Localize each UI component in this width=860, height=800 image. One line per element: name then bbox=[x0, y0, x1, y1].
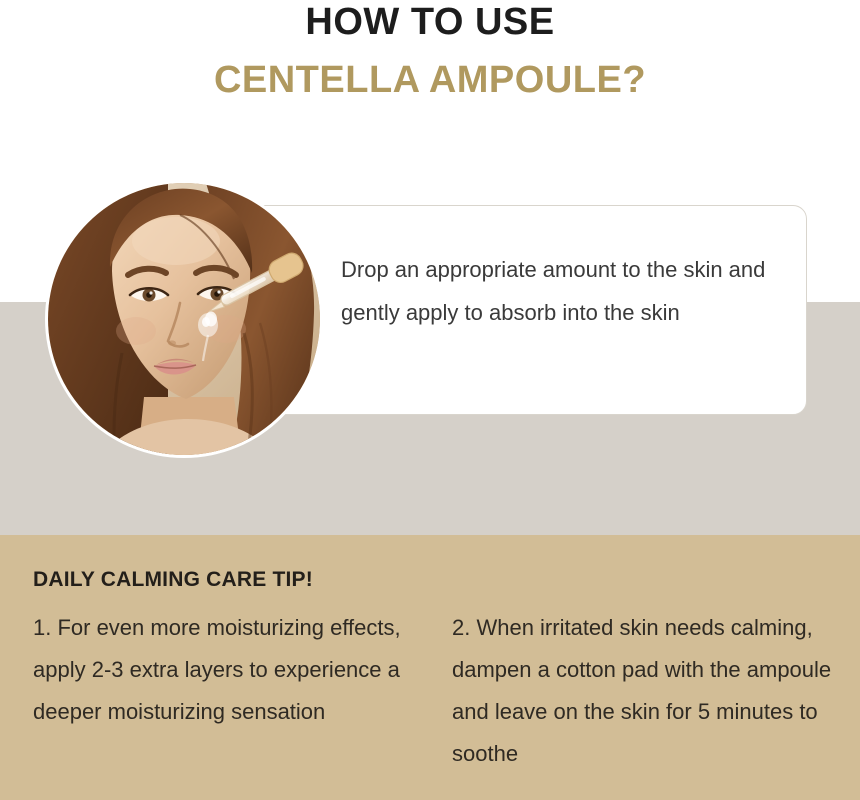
serum-application-photo bbox=[48, 183, 320, 455]
instruction-text: Drop an appropriate amount to the skin a… bbox=[341, 248, 781, 334]
tip-item-1: 1. For even more moisturizing effects, a… bbox=[33, 607, 433, 733]
page-title-line-2: CENTELLA AMPOULE? bbox=[0, 42, 860, 102]
page-title: HOW TO USE CENTELLA AMPOULE? bbox=[0, 0, 860, 102]
photo-illustration bbox=[48, 183, 320, 455]
tip-item-2: 2. When irritated skin needs calming, da… bbox=[452, 607, 852, 775]
daily-calming-care-tip-section: DAILY CALMING CARE TIP! 1. For even more… bbox=[0, 535, 860, 800]
page-title-line-1: HOW TO USE bbox=[0, 0, 860, 42]
tip-section-heading: DAILY CALMING CARE TIP! bbox=[33, 568, 313, 592]
how-to-use-infographic: HOW TO USE CENTELLA AMPOULE? Drop an app… bbox=[0, 0, 860, 800]
